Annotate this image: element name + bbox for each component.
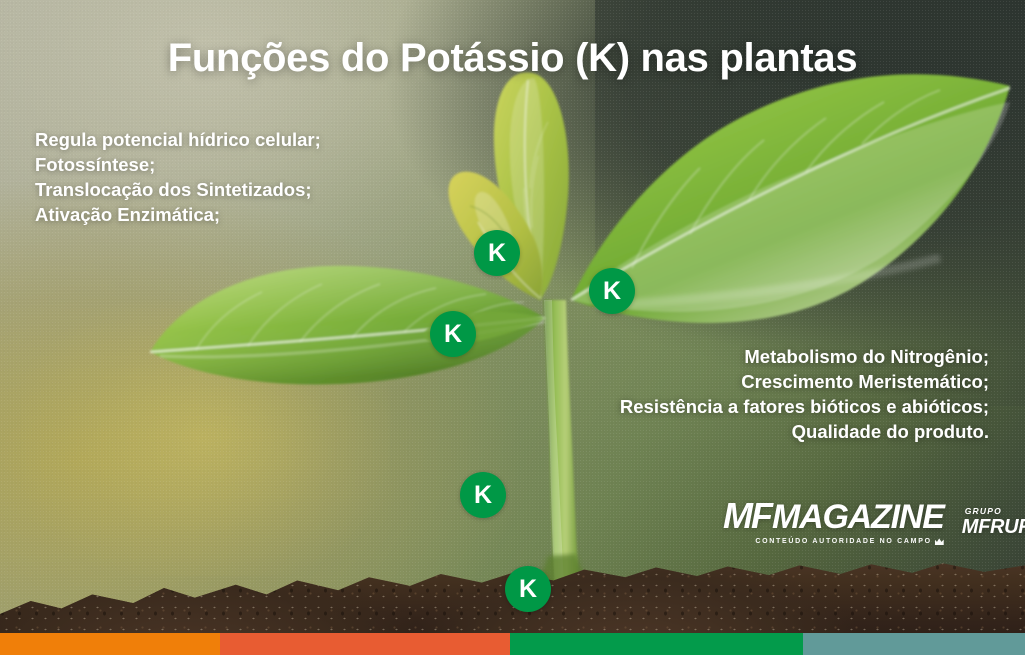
- potassium-badge: K: [474, 230, 520, 276]
- potassium-badge: K: [430, 311, 476, 357]
- mfrural-wordmark: MFRURAL: [962, 517, 1025, 537]
- bottom-color-bar: [0, 633, 1025, 655]
- left-function-2: Fotossíntese;: [35, 152, 321, 177]
- right-function-1: Metabolismo do Nitrogênio;: [620, 344, 989, 369]
- potassium-badge: K: [589, 268, 635, 314]
- mfmagazine-mf-text: MF: [723, 498, 771, 534]
- right-functions-list: Metabolismo do Nitrogênio; Crescimento M…: [620, 344, 989, 444]
- mfmagazine-logo: MF MAGAZINE CONTEÚDO AUTORIDADE NO CAMPO: [723, 498, 944, 545]
- potassium-badge: K: [505, 566, 551, 612]
- right-function-2: Crescimento Meristemático;: [620, 369, 989, 394]
- infographic-canvas: Funções do Potássio (K) nas plantas Regu…: [0, 0, 1025, 655]
- seedling-plant-graphic: [0, 0, 1025, 655]
- left-function-4: Ativação Enzimática;: [35, 202, 321, 227]
- color-segment-orange: [0, 633, 220, 655]
- right-function-3: Resistência a fatores bióticos e abiótic…: [620, 394, 989, 419]
- mfmagazine-tagline: CONTEÚDO AUTORIDADE NO CAMPO: [755, 538, 931, 545]
- mfmagazine-magazine-text: MAGAZINE: [772, 500, 944, 534]
- mfrural-grupo-text: GRUPO: [965, 507, 1025, 516]
- left-function-1: Regula potencial hídrico celular;: [35, 127, 321, 152]
- mfrural-logo: GRUPO MFRURAL: [962, 498, 1025, 537]
- mfmagazine-wordmark: MF MAGAZINE: [723, 498, 944, 534]
- color-segment-red-orange: [220, 633, 510, 655]
- left-function-3: Translocação dos Sintetizados;: [35, 177, 321, 202]
- left-functions-list: Regula potencial hídrico celular; Fotoss…: [35, 127, 321, 227]
- logo-group: MF MAGAZINE CONTEÚDO AUTORIDADE NO CAMPO…: [723, 498, 1025, 545]
- color-segment-teal: [803, 633, 1025, 655]
- color-segment-green: [510, 633, 803, 655]
- potassium-badge: K: [460, 472, 506, 518]
- right-function-4: Qualidade do produto.: [620, 419, 989, 444]
- mfmagazine-tagline-row: CONTEÚDO AUTORIDADE NO CAMPO: [723, 538, 944, 545]
- page-title: Funções do Potássio (K) nas plantas: [0, 36, 1025, 81]
- crown-icon: [935, 538, 944, 545]
